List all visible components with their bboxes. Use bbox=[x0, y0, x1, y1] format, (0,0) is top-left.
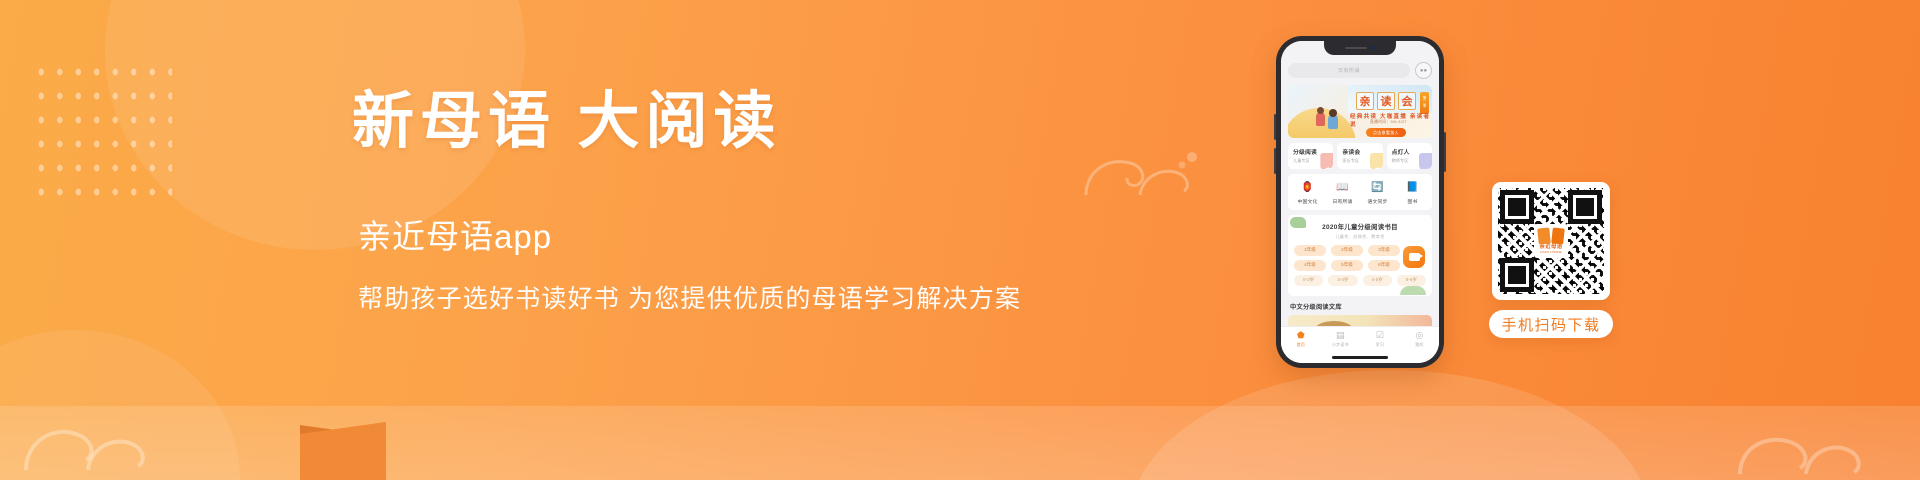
hero-child-figure-1 bbox=[1316, 112, 1325, 126]
copy-block: 新母语 大阅读 亲近母语app 帮助孩子选好书读好书 为您提供优质的母语学习解决… bbox=[352, 86, 1052, 315]
qr-finder-top-left bbox=[1500, 190, 1534, 224]
bookmark-red-icon bbox=[1320, 153, 1333, 169]
ground-decoration bbox=[0, 406, 1920, 480]
home-indicator bbox=[1332, 356, 1388, 359]
grade-chip[interactable]: 2年级 bbox=[1331, 245, 1363, 256]
lantern-icon: 🏮 bbox=[1301, 180, 1315, 195]
blob-bottom-left-decoration bbox=[0, 330, 240, 480]
quick-entry-chinese-culture[interactable]: 🏮 中国文化 bbox=[1290, 180, 1325, 205]
category-cards: 分级阅读 儿童专区 亲读会 家长专区 点灯人 教师专区 bbox=[1288, 143, 1432, 169]
hero-cta-button[interactable]: 点击收看加入 bbox=[1366, 128, 1406, 137]
category-card-teacher[interactable]: 点灯人 教师专区 bbox=[1387, 143, 1432, 169]
hero-season-ribbon: 第二季 bbox=[1420, 92, 1429, 114]
home-icon: ⬟ bbox=[1281, 331, 1321, 340]
hero-char-2: 读 bbox=[1377, 92, 1395, 110]
category-card-graded-reading[interactable]: 分级阅读 儿童专区 bbox=[1288, 143, 1333, 169]
grade-chip[interactable]: 4年级 bbox=[1294, 260, 1326, 271]
booklist-title: 2020年儿童分级阅读书目 bbox=[1294, 222, 1426, 231]
cloud-bottom-left-icon bbox=[18, 404, 168, 474]
phone-power-button bbox=[1444, 132, 1446, 172]
tab-label: 学习 bbox=[1360, 342, 1400, 348]
qr-logo-text-en: QINJIN CHINESE bbox=[1540, 252, 1562, 254]
cloud-swirl-icon bbox=[1080, 145, 1200, 203]
leaf-decoration-bottom-right bbox=[1400, 286, 1426, 295]
booklist-chips: 1年级 2年级 3年级 4年级 5年级 6年级 0-3岁 3-4岁 4- bbox=[1294, 245, 1426, 286]
cloud-bottom-right-icon bbox=[1730, 414, 1880, 478]
quick-entry-label: 中国文化 bbox=[1290, 198, 1325, 205]
open-book-icon: 📖 bbox=[1336, 180, 1350, 195]
quick-entry-label: 语文同步 bbox=[1360, 198, 1395, 205]
front-camera-icon bbox=[1371, 46, 1375, 50]
sync-icon: 🔄 bbox=[1371, 180, 1385, 195]
chat-icon[interactable]: ●● bbox=[1415, 62, 1432, 79]
section-title: 中文分级阅读文库 bbox=[1290, 302, 1432, 311]
category-card-parent-club[interactable]: 亲读会 家长专区 bbox=[1337, 143, 1382, 169]
tab-study[interactable]: ☑ 学习 bbox=[1360, 331, 1400, 348]
grade-chip[interactable]: 6年级 bbox=[1368, 260, 1400, 271]
bookmark-yellow-icon bbox=[1370, 153, 1383, 169]
tab-label: 小步读书 bbox=[1321, 342, 1361, 348]
tab-label: 我的 bbox=[1400, 342, 1440, 348]
page-title: 新母语 大阅读 bbox=[352, 86, 1052, 159]
grade-chip[interactable]: 3年级 bbox=[1368, 245, 1400, 256]
quick-entry-textbook-sync[interactable]: 🔄 语文同步 bbox=[1360, 180, 1395, 205]
tab-label: 首页 bbox=[1281, 342, 1321, 348]
age-chip-row: 0-3岁 3-4岁 4-5岁 5-6岁 bbox=[1294, 275, 1426, 286]
tagline: 帮助孩子选好书读好书 为您提供优质的母语学习解决方案 bbox=[358, 283, 1052, 316]
grade-chip[interactable]: 5年级 bbox=[1331, 260, 1363, 271]
video-camera-glyph bbox=[1409, 253, 1420, 261]
hero-child-figure-2 bbox=[1328, 114, 1338, 129]
booklist-subtitle: 儿童性、经典性、教育性 bbox=[1294, 234, 1426, 240]
age-chip[interactable]: 3-4岁 bbox=[1328, 275, 1357, 286]
quick-entry-books[interactable]: 📘 图书 bbox=[1395, 180, 1430, 205]
app-home-screen: 日有所诵 ●● 亲 读 会 第二季 经典共读 大咖直播 亲读者说 直播 bbox=[1281, 41, 1439, 363]
qr-finder-bottom-left bbox=[1500, 258, 1534, 292]
age-chip[interactable]: 0-3岁 bbox=[1294, 275, 1323, 286]
phone-mockup: 日有所诵 ●● 亲 读 会 第二季 经典共读 大咖直播 亲读者说 直播 bbox=[1276, 36, 1444, 368]
checklist-icon: ☑ bbox=[1360, 331, 1400, 340]
book-icon: 📘 bbox=[1406, 180, 1420, 195]
search-input[interactable]: 日有所诵 bbox=[1288, 63, 1410, 78]
age-chip[interactable]: 4-5岁 bbox=[1363, 275, 1392, 286]
phone-notch bbox=[1324, 41, 1396, 55]
cube-decoration bbox=[300, 422, 386, 480]
tab-home[interactable]: ⬟ 首页 bbox=[1281, 331, 1321, 348]
phone-screen: 日有所诵 ●● 亲 读 会 第二季 经典共读 大咖直播 亲读者说 直播 bbox=[1281, 41, 1439, 363]
qr-finder-top-right bbox=[1568, 190, 1602, 224]
earpiece-speaker bbox=[1345, 47, 1367, 50]
tab-mine[interactable]: ◎ 我的 bbox=[1400, 331, 1440, 348]
quick-entry-daily-recite[interactable]: 📖 日有所诵 bbox=[1325, 180, 1360, 205]
hero-date: 直播时间：9/6-9/27 bbox=[1370, 120, 1407, 125]
quick-entry-row: 🏮 中国文化 📖 日有所诵 🔄 语文同步 📘 图书 bbox=[1288, 174, 1432, 210]
book-page-right bbox=[1551, 228, 1565, 245]
search-row: 日有所诵 ●● bbox=[1288, 62, 1432, 79]
age-chip[interactable]: 5-6岁 bbox=[1397, 275, 1426, 286]
hero-title: 亲 读 会 第二季 bbox=[1356, 92, 1429, 114]
quick-entry-label: 图书 bbox=[1395, 198, 1430, 205]
dot-grid-decoration bbox=[32, 60, 172, 210]
promo-banner: 新母语 大阅读 亲近母语app 帮助孩子选好书读好书 为您提供优质的母语学习解决… bbox=[0, 0, 1920, 480]
notes-icon: ▤ bbox=[1321, 331, 1361, 340]
qr-center-logo: 亲近母语 QINJIN CHINESE bbox=[1534, 224, 1568, 258]
hero-char-3: 会 bbox=[1398, 92, 1416, 110]
hero-banner[interactable]: 亲 读 会 第二季 经典共读 大咖直播 亲读者说 直播时间：9/6-9/27 点… bbox=[1288, 85, 1432, 138]
grade-chip[interactable]: 1年级 bbox=[1294, 245, 1326, 256]
open-book-logo-icon bbox=[1538, 228, 1564, 244]
book-page-left bbox=[1537, 228, 1551, 245]
qr-code-card: 亲近母语 QINJIN CHINESE bbox=[1492, 182, 1610, 300]
qr-logo-text-zh: 亲近母语 bbox=[1539, 245, 1562, 250]
leaf-decoration-top-left bbox=[1290, 217, 1306, 228]
download-button[interactable]: 手机扫码下载 bbox=[1489, 310, 1613, 338]
video-play-icon[interactable] bbox=[1403, 246, 1425, 268]
halo-decoration bbox=[1130, 370, 1650, 480]
booklist-module: 2020年儿童分级阅读书目 儿童性、经典性、教育性 1年级 2年级 3年级 4年… bbox=[1288, 215, 1432, 296]
quick-entry-label: 日有所诵 bbox=[1325, 198, 1360, 205]
user-icon: ◎ bbox=[1400, 331, 1440, 340]
app-name-subhead: 亲近母语app bbox=[358, 217, 1052, 257]
hero-char-1: 亲 bbox=[1356, 92, 1374, 110]
bookmark-purple-icon bbox=[1419, 153, 1432, 169]
cube-shadow-decoration bbox=[300, 425, 343, 480]
tab-reading[interactable]: ▤ 小步读书 bbox=[1321, 331, 1361, 348]
